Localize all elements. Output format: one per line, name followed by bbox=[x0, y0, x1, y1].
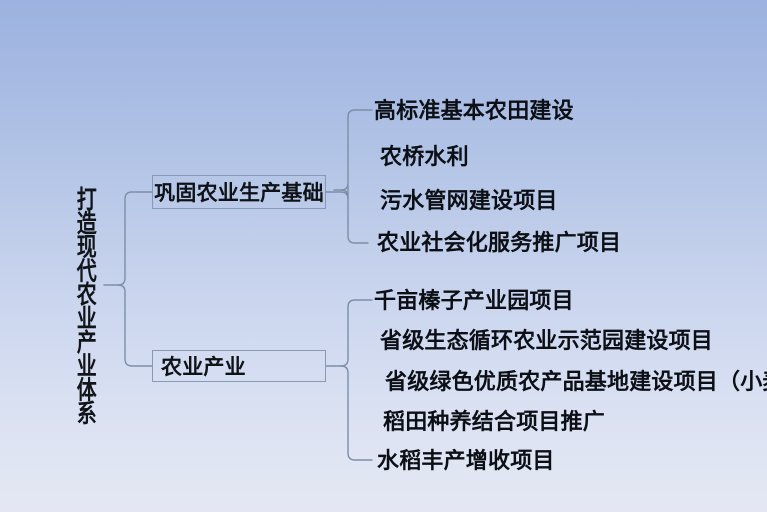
leaf-item: 稻田种养结合项目推广 bbox=[383, 411, 605, 433]
branch-node-consolidate[interactable]: 巩固农业生产基础 bbox=[152, 175, 326, 209]
leaf-item: 千亩榛子产业园项目 bbox=[374, 290, 574, 312]
leaf-item: 污水管网建设项目 bbox=[380, 190, 558, 212]
branch-label-industry: 农业产业 bbox=[161, 351, 246, 381]
branch-node-industry[interactable]: 农业产业 bbox=[152, 350, 326, 382]
group1-bracket-upper bbox=[334, 110, 372, 190]
group1-bracket-lower bbox=[341, 190, 368, 243]
leaf-item: 省级生态循环农业示范园建设项目 bbox=[380, 330, 713, 352]
root-bracket bbox=[104, 192, 152, 285]
leaf-item: 省级绿色优质农产品基地建设项目（小麦） bbox=[385, 371, 767, 393]
connector-lines bbox=[0, 0, 767, 512]
leaf-item: 水稻丰产增收项目 bbox=[377, 450, 555, 472]
group1-stub bbox=[326, 185, 348, 199]
root-title: 打造现代农业产业体系 bbox=[66, 186, 93, 410]
leaf-item: 农业社会化服务推广项目 bbox=[377, 232, 621, 254]
root-bracket-lower bbox=[118, 285, 152, 366]
branch-label-consolidate: 巩固农业生产基础 bbox=[154, 177, 324, 207]
group2-bracket-upper bbox=[334, 300, 372, 366]
diagram-canvas: 打造现代农业产业体系 巩固农业生产基础 农业产业 高标准基本农田建设 农桥水利 … bbox=[0, 0, 767, 512]
leaf-item: 高标准基本农田建设 bbox=[374, 100, 574, 122]
leaf-item: 农桥水利 bbox=[380, 146, 469, 168]
group2-bracket-lower bbox=[341, 366, 372, 460]
